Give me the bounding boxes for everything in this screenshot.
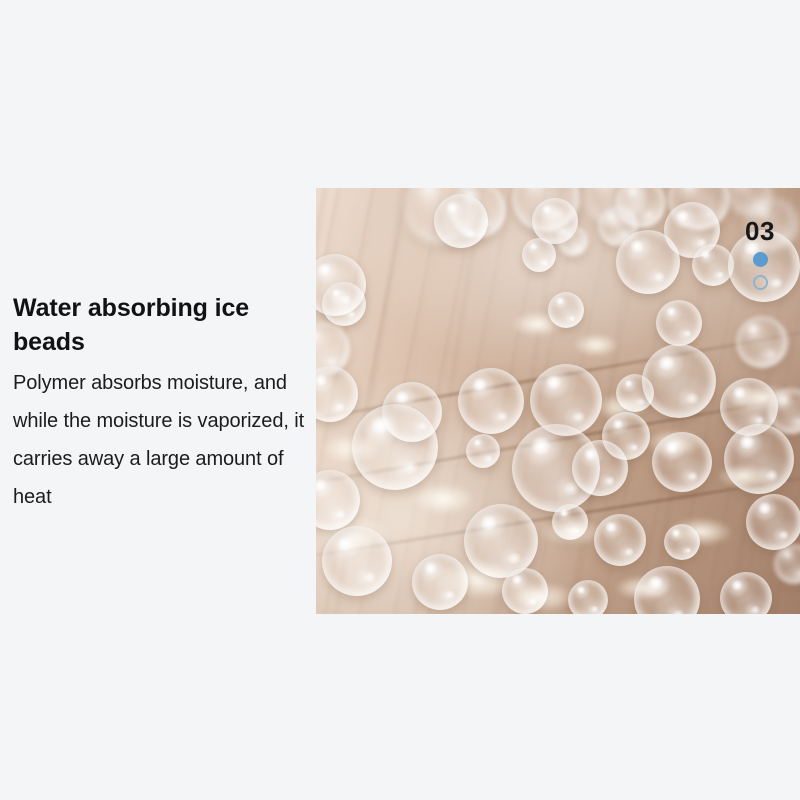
feature-photo bbox=[316, 188, 800, 614]
step-dot-inactive[interactable] bbox=[753, 275, 768, 290]
product-feature-slide: Water absorbing ice beads Polymer absorb… bbox=[0, 0, 800, 800]
step-dot-active[interactable] bbox=[753, 252, 768, 267]
feature-title: Water absorbing ice beads bbox=[13, 291, 313, 359]
step-badge: 03 bbox=[738, 216, 782, 306]
feature-text-block: Water absorbing ice beads Polymer absorb… bbox=[13, 291, 313, 516]
photo-vignette bbox=[316, 188, 800, 614]
step-number: 03 bbox=[738, 216, 782, 246]
step-dot-list bbox=[738, 252, 782, 290]
feature-description: Polymer absorbs moisture, and while the … bbox=[13, 364, 313, 516]
